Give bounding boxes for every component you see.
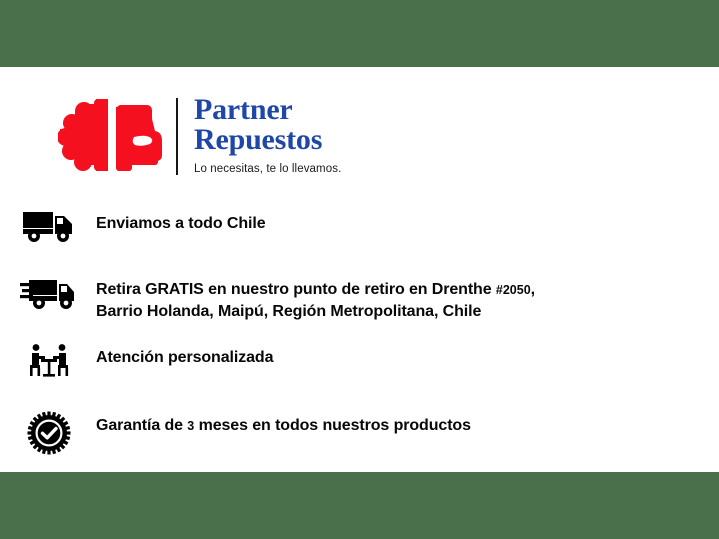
truck-icon (18, 207, 80, 243)
top-green-band (0, 0, 719, 67)
feature-text-pickup-line2: Barrio Holanda, Maipú, Región Metropolit… (96, 303, 481, 320)
banner-content: Partner Repuestos Lo necesitas, te lo ll… (0, 67, 719, 472)
feature-text-support-main: Atención personalizada (96, 349, 273, 366)
fast-truck-icon (18, 273, 80, 311)
feature-text-support: Atención personalizada (96, 341, 273, 368)
brand-logo: Partner Repuestos Lo necesitas, te lo ll… (58, 93, 341, 177)
promo-banner: Partner Repuestos Lo necesitas, te lo ll… (0, 0, 719, 539)
feature-row-warranty: Garantía de 3 meses en todos nuestros pr… (0, 409, 719, 465)
feature-text-shipping: Enviamos a todo Chile (96, 207, 266, 234)
feature-row-shipping: Enviamos a todo Chile (0, 207, 719, 263)
feature-row-pickup: Retira GRATIS en nuestro punto de retiro… (0, 273, 719, 329)
feature-list: Enviamos a todo Chile (0, 207, 719, 465)
feature-text-warranty-after: meses en todos nuestros productos (194, 417, 471, 434)
feature-text-pickup-number: #2050 (496, 283, 531, 297)
bottom-green-band (0, 472, 719, 539)
brand-tagline: Lo necesitas, te lo llevamos. (194, 163, 341, 175)
brand-text: Partner Repuestos Lo necesitas, te lo ll… (194, 95, 341, 175)
gear-car-icon (58, 93, 170, 177)
check-badge-icon (18, 409, 80, 455)
meeting-table-icon (18, 341, 80, 379)
feature-text-warranty: Garantía de 3 meses en todos nuestros pr… (96, 409, 471, 437)
feature-text-shipping-main: Enviamos a todo Chile (96, 215, 266, 232)
brand-name-line1: Partner (194, 95, 341, 125)
feature-text-pickup-main: Retira GRATIS en nuestro punto de retiro… (96, 281, 496, 298)
feature-text-pickup: Retira GRATIS en nuestro punto de retiro… (96, 273, 535, 322)
feature-text-warranty-main: Garantía de (96, 417, 187, 434)
logo-divider (176, 98, 178, 175)
feature-text-pickup-after: , (531, 281, 535, 298)
brand-name-line2: Repuestos (194, 125, 341, 155)
feature-row-support: Atención personalizada (0, 341, 719, 397)
